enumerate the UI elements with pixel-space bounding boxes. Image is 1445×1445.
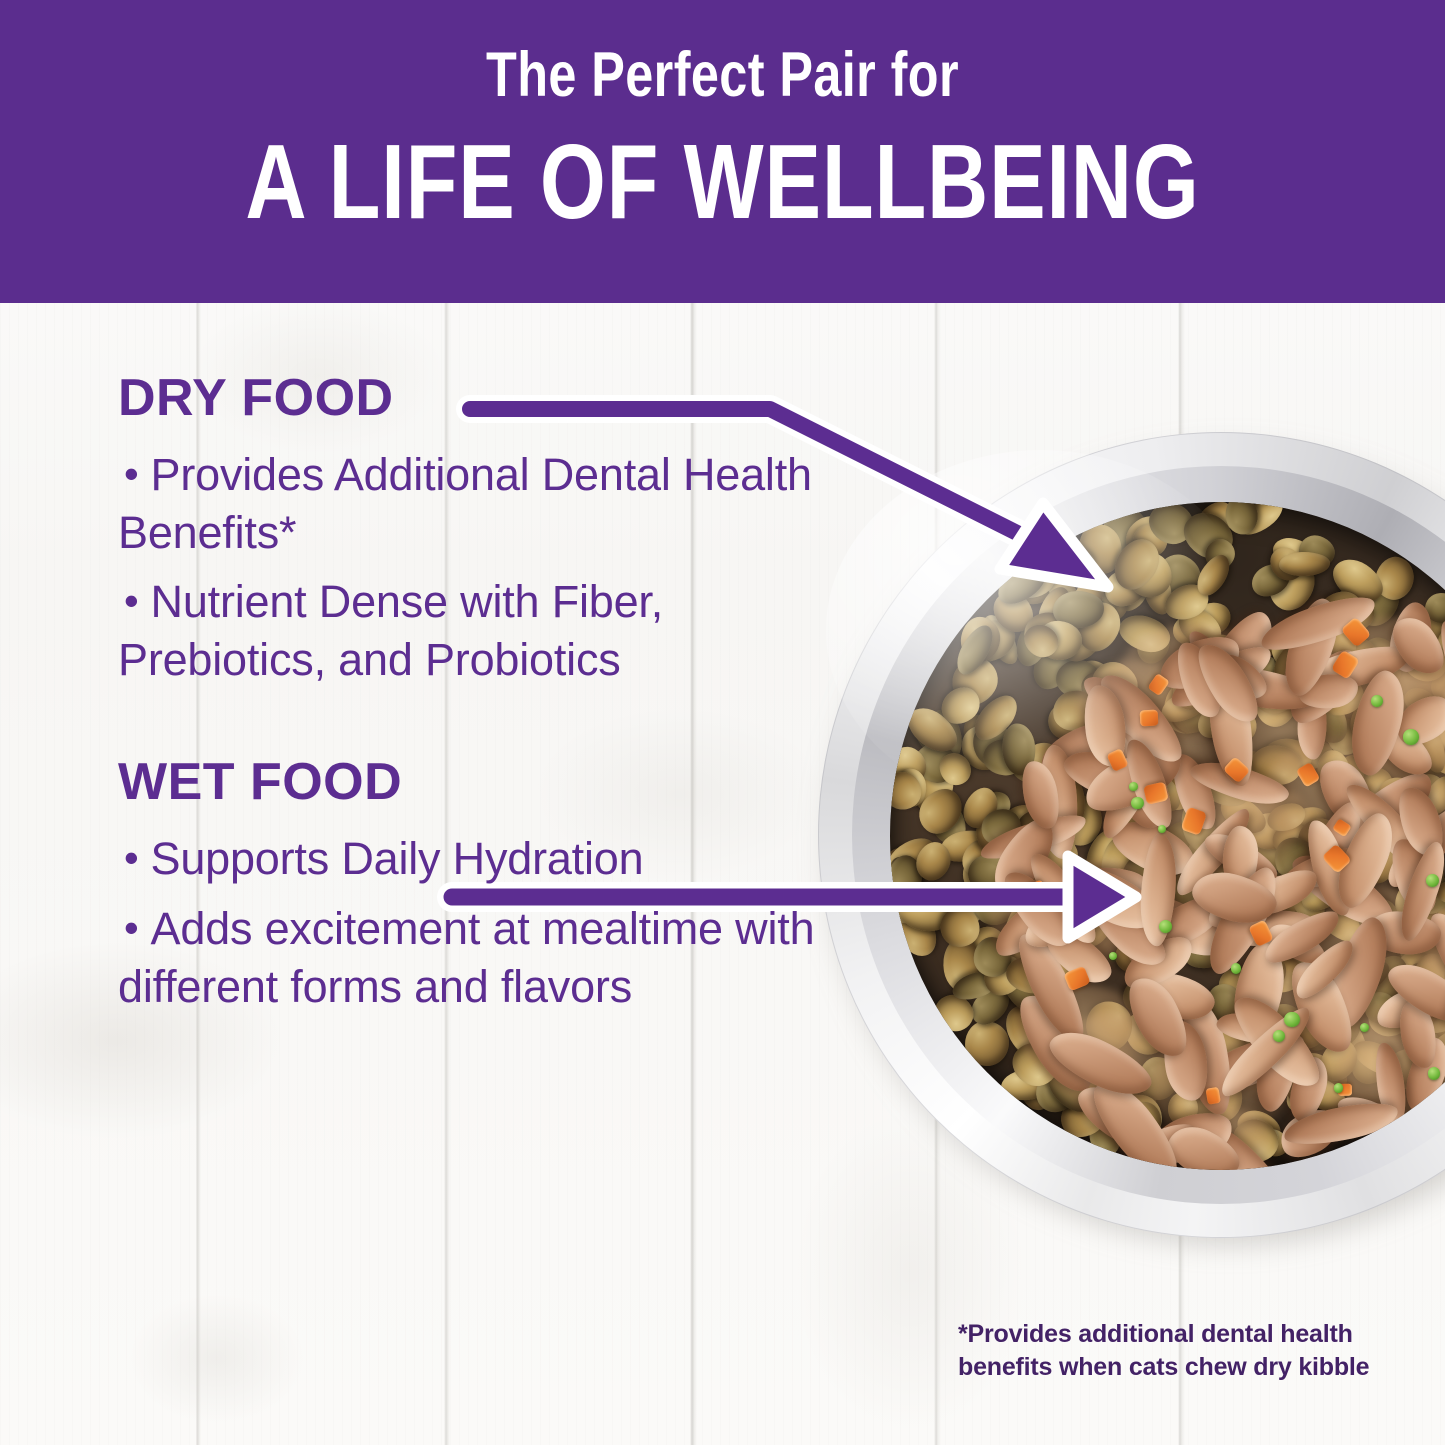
section-spacer	[118, 700, 818, 756]
wet-food-section: WET FOOD •Supports Daily Hydration •Adds…	[118, 756, 818, 1015]
banner-title: A LIFE OF WELLBEING	[145, 129, 1301, 235]
benefits-text-column: DRY FOOD •Provides Additional Dental Hea…	[118, 372, 818, 1027]
dry-food-bullet-list: •Provides Additional Dental Health Benef…	[118, 446, 818, 688]
pea-piece	[1360, 1023, 1369, 1032]
list-item: •Nutrient Dense with Fiber, Prebiotics, …	[118, 573, 818, 688]
pea-piece	[1159, 920, 1172, 933]
pea-piece	[1428, 1067, 1441, 1080]
bullet-marker-icon: •	[124, 577, 139, 624]
pea-piece	[1109, 952, 1117, 960]
list-item: •Provides Additional Dental Health Benef…	[118, 446, 818, 561]
pea-piece	[1371, 695, 1383, 707]
bullet-marker-icon: •	[124, 834, 139, 881]
wet-food-region	[890, 502, 1445, 1170]
dry-food-heading: DRY FOOD	[118, 372, 818, 424]
pea-piece	[1273, 1030, 1285, 1042]
wet-food-heading: WET FOOD	[118, 756, 818, 808]
pea-piece	[1131, 797, 1143, 809]
banner-subtitle: The Perfect Pair for	[145, 44, 1301, 107]
carrot-piece	[1140, 709, 1159, 726]
list-item: •Adds excitement at mealtime with differ…	[118, 900, 818, 1015]
bullet-text: Adds excitement at mealtime with differe…	[118, 903, 814, 1012]
header-banner: The Perfect Pair for A LIFE OF WELLBEING	[0, 0, 1445, 303]
pea-piece	[1403, 729, 1419, 745]
bullet-marker-icon: •	[124, 904, 139, 951]
pea-piece	[1231, 963, 1242, 974]
pet-food-bowl	[818, 432, 1445, 1244]
bullet-text: Provides Additional Dental Health Benefi…	[118, 449, 812, 558]
list-item: •Supports Daily Hydration	[118, 830, 818, 888]
perfect-pair-infographic: The Perfect Pair for A LIFE OF WELLBEING…	[0, 0, 1445, 1445]
bullet-text: Supports Daily Hydration	[151, 833, 644, 884]
footnote-line-2: benefits when cats chew dry kibble	[958, 1351, 1388, 1384]
bullet-text: Nutrient Dense with Fiber, Prebiotics, a…	[118, 576, 663, 685]
footnote: *Provides additional dental health benef…	[958, 1318, 1388, 1383]
bullet-marker-icon: •	[124, 450, 139, 497]
bowl-interior	[890, 502, 1445, 1170]
dry-food-section: DRY FOOD •Provides Additional Dental Hea…	[118, 372, 818, 688]
pea-piece	[1284, 1012, 1299, 1027]
footnote-line-1: *Provides additional dental health	[958, 1318, 1388, 1351]
wet-food-bullet-list: •Supports Daily Hydration •Adds exciteme…	[118, 830, 818, 1015]
pea-piece	[1129, 782, 1138, 791]
